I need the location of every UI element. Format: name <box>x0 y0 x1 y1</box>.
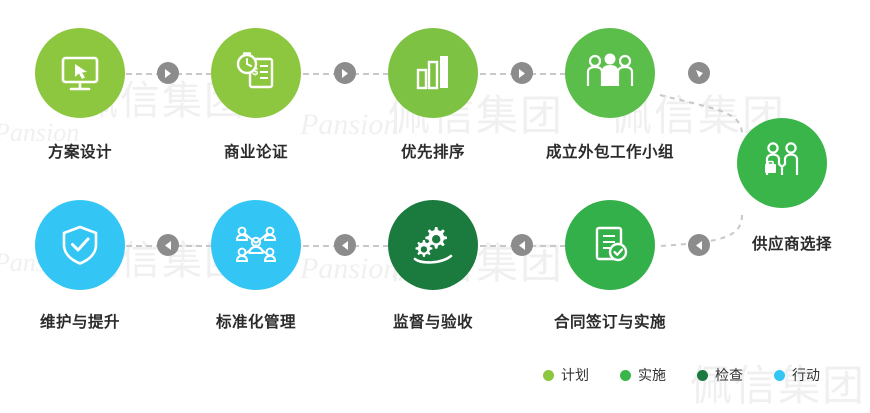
node-circle[interactable] <box>388 200 478 290</box>
node-label: 合同签订与实施 <box>535 310 685 332</box>
people-group-icon <box>582 48 638 98</box>
node-label: 维护与提升 <box>10 310 150 332</box>
node-circle[interactable] <box>35 28 125 118</box>
node-circle[interactable]: $ <box>211 28 301 118</box>
legend-dot-action <box>774 370 785 381</box>
legend-item-implement: 实施 <box>620 365 666 385</box>
node-label: 标准化管理 <box>186 310 326 332</box>
diagram-canvas: Pansion 佩信集团 Pansion 佩信集团 佩信集团 Pansion 佩… <box>0 0 870 404</box>
monitor-cursor-icon <box>55 48 105 98</box>
node-circle[interactable] <box>565 28 655 118</box>
legend-item-plan: 计划 <box>543 365 589 385</box>
legend-dot-plan <box>543 370 554 381</box>
arrow-left-6 <box>511 234 533 256</box>
node-label: 监督与验收 <box>363 310 503 332</box>
node-label: 优先排序 <box>363 140 503 162</box>
node-label: 商业论证 <box>186 140 326 162</box>
legend-dot-implement <box>620 370 631 381</box>
arrow-down-right-4 <box>688 62 710 84</box>
bar-chart-icon <box>408 48 458 98</box>
legend-label-action: 行动 <box>792 365 820 385</box>
legend-label-implement: 实施 <box>638 365 666 385</box>
document-money-stopwatch-icon: $ <box>230 47 282 99</box>
node-circle[interactable] <box>388 28 478 118</box>
shield-check-icon <box>55 220 105 270</box>
arrow-right-3 <box>511 62 533 84</box>
legend-dot-check <box>697 370 708 381</box>
legend-item-check: 检查 <box>697 365 743 385</box>
legend-label-plan: 计划 <box>561 365 589 385</box>
node-circle[interactable] <box>211 200 301 290</box>
node-circle[interactable] <box>35 200 125 290</box>
arrow-right-2 <box>334 62 356 84</box>
contract-check-icon <box>585 220 635 270</box>
node-label: 供应商选择 <box>722 232 862 254</box>
legend-label-check: 检查 <box>715 365 743 385</box>
arrow-right-1 <box>157 62 179 84</box>
gears-hand-icon <box>407 219 459 271</box>
node-circle[interactable] <box>737 118 827 208</box>
legend-item-action: 行动 <box>774 365 820 385</box>
arrow-left-7 <box>334 234 356 256</box>
network-users-icon <box>230 219 282 271</box>
node-label: 方案设计 <box>10 140 150 162</box>
node-circle[interactable] <box>565 200 655 290</box>
arrow-left-5 <box>688 234 710 256</box>
arrow-left-8 <box>157 234 179 256</box>
node-label: 成立外包工作小组 <box>530 140 690 162</box>
handshake-briefcase-icon <box>756 137 808 189</box>
